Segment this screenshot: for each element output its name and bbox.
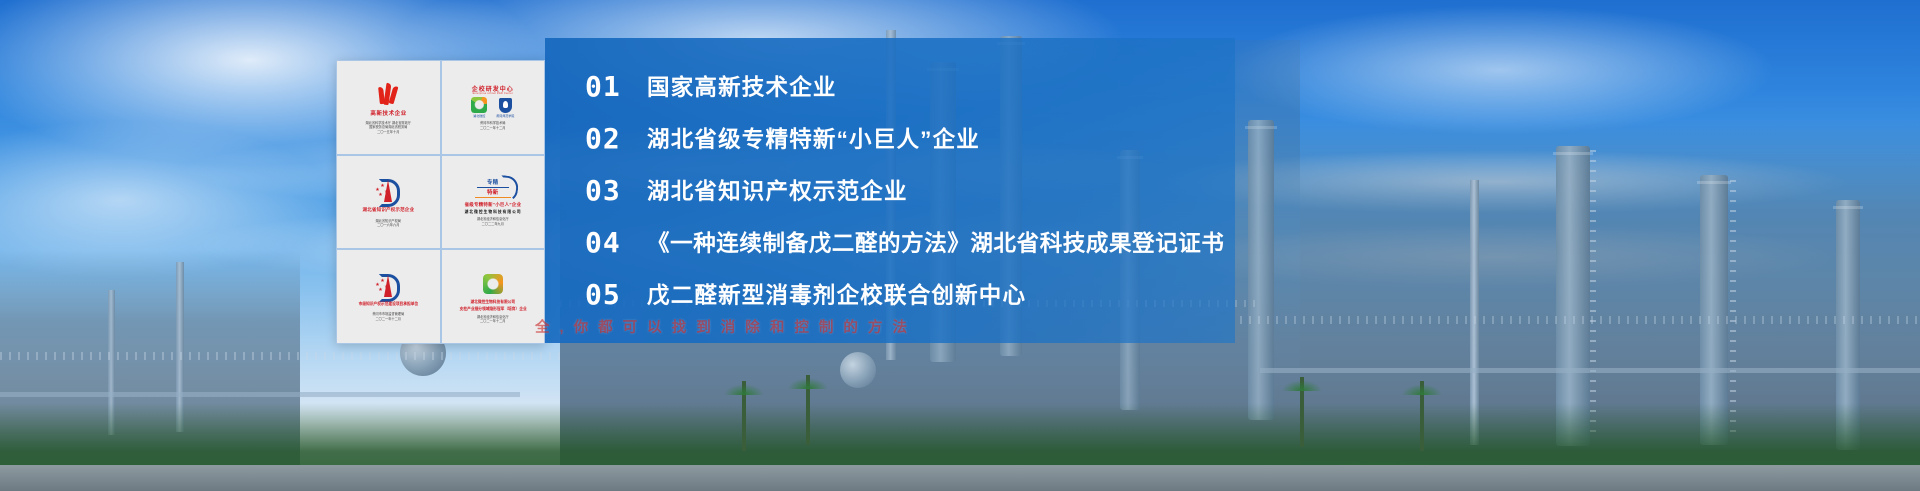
certificate-subtitle: 湖 北 微 控 生 物 科 技 有 限 公 司 — [465, 210, 521, 215]
spherical-tank — [840, 352, 876, 388]
distillation-tower — [1248, 120, 1274, 420]
distillation-tower — [1556, 146, 1590, 446]
shield-icon — [499, 98, 512, 113]
palm-tree — [742, 381, 746, 451]
honor-text: 国家高新技术企业 — [647, 70, 837, 102]
enterprise-school-icon: 企校研发中心 Enterprise school R&D Center — [472, 84, 514, 95]
certificate-date: 二〇一五年十月 — [377, 130, 399, 135]
tower-ladder — [1730, 180, 1736, 440]
certificate-title-en: Enterprise school R&D Center — [473, 92, 513, 95]
green-swirl-icon — [483, 269, 503, 299]
p-star-icon: ★★★★ — [375, 176, 401, 206]
certificate-wall: 高新技术企业 湖北省科学技术厅 湖北省财政厅 国家税务总局湖北省税务局 二〇一五… — [336, 60, 545, 344]
honor-row: 02 湖北省级专精特新“小巨人”企业 — [585, 112, 1235, 164]
honor-row: 04 《一种连续制备戊二醛的方法》湖北省科技成果登记证书 — [585, 216, 1235, 268]
swoosh-icon — [498, 175, 519, 203]
certificate-card-rd-center[interactable]: 企校研发中心 Enterprise school R&D Center 湖北微控… — [441, 60, 546, 155]
honor-number: 02 — [585, 122, 647, 155]
flame-icon — [377, 80, 399, 110]
certificate-card-little-giant[interactable]: 专精 特新 省级专精特新“小巨人”企业 湖 北 微 控 生 物 科 技 有 限 … — [441, 155, 546, 250]
palm-tree — [1420, 381, 1424, 451]
watermark-text: 全 , 你 都 可 以 找 到 消 除 和 控 制 的 方 法 — [535, 316, 965, 336]
p-star-icon: ★★★★ — [375, 271, 401, 301]
honor-number: 04 — [585, 226, 647, 259]
certificate-date: 二〇二一年十二月 — [376, 317, 402, 322]
foreground-road — [0, 465, 1920, 491]
logo-text-bottom: 特新 — [487, 188, 499, 196]
pipeline — [0, 392, 520, 397]
partner-label: 湖北微控 — [473, 114, 485, 118]
palm-tree — [806, 375, 810, 445]
certificate-subtitle: 支柱产业细分领域隐形冠军（培育）企业 — [459, 307, 526, 312]
honor-number: 05 — [585, 278, 647, 311]
certificate-date: 二〇二一年十二月 — [480, 126, 506, 131]
certificate-title: 高新技术企业 — [370, 111, 406, 118]
tower-ladder — [1590, 150, 1596, 440]
honor-text: 湖北省级专精特新“小巨人”企业 — [647, 122, 980, 154]
honor-text: 《一种连续制备戊二醛的方法》湖北省科技成果登记证书 — [647, 226, 1225, 258]
partner-huanggang: 黄冈师范学院 — [496, 98, 514, 118]
certificate-card-pillar-industry[interactable]: 湖北微控生物科技有限公司 支柱产业细分领域隐形冠军（培育）企业 湖北省经济和信息… — [441, 249, 546, 344]
certificate-date: 二〇二一年十二月 — [480, 319, 506, 324]
certificate-card-ip-demo-construction[interactable]: ★★★★ 市级知识产权示范建设项目承担单位 黄冈市市场监督管理局 二〇二一年十二… — [336, 249, 441, 344]
honor-text: 湖北省知识产权示范企业 — [647, 174, 908, 206]
honor-number: 03 — [585, 174, 647, 207]
certificate-card-high-tech[interactable]: 高新技术企业 湖北省科学技术厅 湖北省财政厅 国家税务总局湖北省税务局 二〇一五… — [336, 60, 441, 155]
honor-row: 01 国家高新技术企业 — [585, 60, 1235, 112]
partner-label: 黄冈师范学院 — [496, 114, 514, 118]
honor-number: 01 — [585, 70, 647, 103]
certificate-title: 省级专精特新“小巨人”企业 — [464, 202, 521, 208]
honor-text: 戊二醛新型消毒剂企校联合创新中心 — [647, 278, 1026, 310]
pipe-rack — [1240, 316, 1920, 324]
palm-tree — [1300, 377, 1304, 447]
honor-row: 03 湖北省知识产权示范企业 — [585, 164, 1235, 216]
partner-logos: 湖北微控 黄冈师范学院 — [471, 97, 514, 118]
certificate-title: 市级知识产权示范建设项目承担单位 — [358, 303, 418, 308]
honor-row: 05 戊二醛新型消毒剂企校联合创新中心 — [585, 268, 1235, 320]
logo-text-top: 专精 — [487, 178, 499, 186]
certificate-date: 二〇一六年六月 — [377, 223, 399, 228]
certificate-title: 湖北省知识产权示范企业 — [362, 207, 414, 213]
honors-panel: 01 国家高新技术企业 02 湖北省级专精特新“小巨人”企业 03 湖北省知识产… — [545, 38, 1235, 343]
green-swirl-icon — [471, 97, 487, 113]
pipeline — [1260, 368, 1920, 373]
pipe-rack — [0, 352, 560, 360]
certificate-date: 二〇二二年九月 — [482, 222, 504, 227]
partner-weikong: 湖北微控 — [471, 97, 487, 118]
certificate-card-ip-model[interactable]: ★★★★ 湖北省知识产权示范企业 湖北省知识产权局 二〇一六年六月 — [336, 155, 441, 250]
banner-image: 高新技术企业 湖北省科学技术厅 湖北省财政厅 国家税务总局湖北省税务局 二〇一五… — [0, 0, 1920, 491]
zhuanjing-texin-icon: 专精 特新 — [470, 177, 516, 199]
certificate-title: 湖北微控生物科技有限公司 — [470, 300, 515, 305]
